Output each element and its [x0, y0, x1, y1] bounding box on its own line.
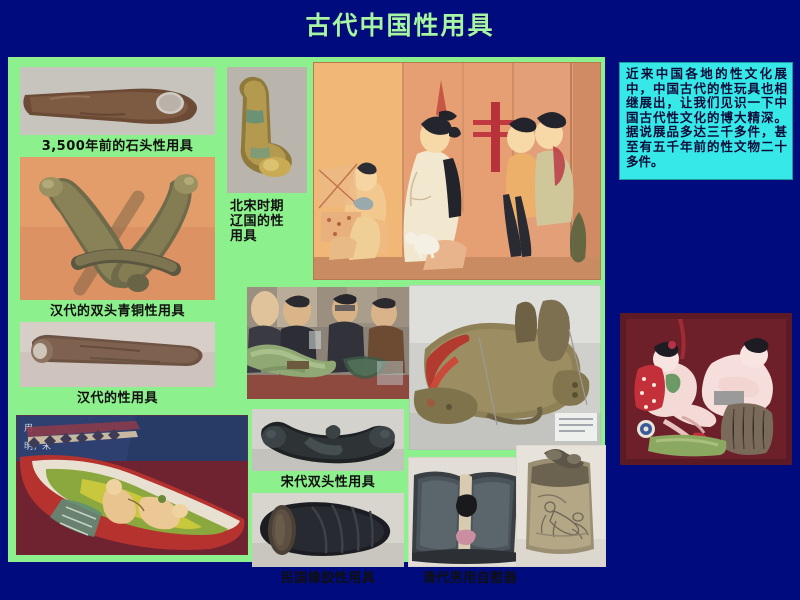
- photo-museum-exhibit[interactable]: [247, 287, 412, 399]
- content-panel: 3,500年前的石头性用具 北宋时期 辽国的性 用具: [8, 57, 605, 562]
- caption-qing-male-device: 清代男用自慰器: [400, 571, 540, 586]
- photo-stone-implement[interactable]: [20, 67, 215, 135]
- photo-metal-flask[interactable]: [516, 445, 606, 567]
- photo-republic-rubber[interactable]: [252, 493, 404, 567]
- caption-song-double-head: 宋代双头性用具: [252, 475, 404, 490]
- photo-qing-male-device[interactable]: [408, 457, 524, 567]
- photo-shell-painting[interactable]: 用 明，未: [16, 415, 248, 555]
- photo-porcelain-figurine[interactable]: [620, 313, 792, 465]
- caption-republic-rubber: 民国橡胶性用具: [252, 571, 404, 586]
- info-text: 近来中国各地的性文化展中，中国古代的性玩具也相继展出，让我们见识一下中国古代性文…: [626, 67, 787, 169]
- photo-han-implement[interactable]: [20, 322, 215, 387]
- photo-liao-bronze[interactable]: [227, 67, 307, 193]
- page-title: 古代中国性用具: [0, 6, 800, 42]
- info-box: 近来中国各地的性文化展中，中国古代的性玩具也相继展出，让我们见识一下中国古代性文…: [619, 62, 793, 180]
- caption-han-implement: 汉代的性用具: [20, 391, 215, 406]
- caption-liao-bronze: 北宋时期 辽国的性 用具: [230, 199, 310, 244]
- photo-song-double-head[interactable]: [252, 409, 404, 471]
- photo-leather-saddle[interactable]: [409, 285, 601, 450]
- photo-ancient-painting[interactable]: [313, 62, 601, 280]
- caption-han-double-bronze: 汉代的双头青铜性用具: [20, 304, 215, 319]
- photo-han-double-bronze[interactable]: [20, 157, 215, 300]
- caption-stone-implement: 3,500年前的石头性用具: [20, 139, 215, 154]
